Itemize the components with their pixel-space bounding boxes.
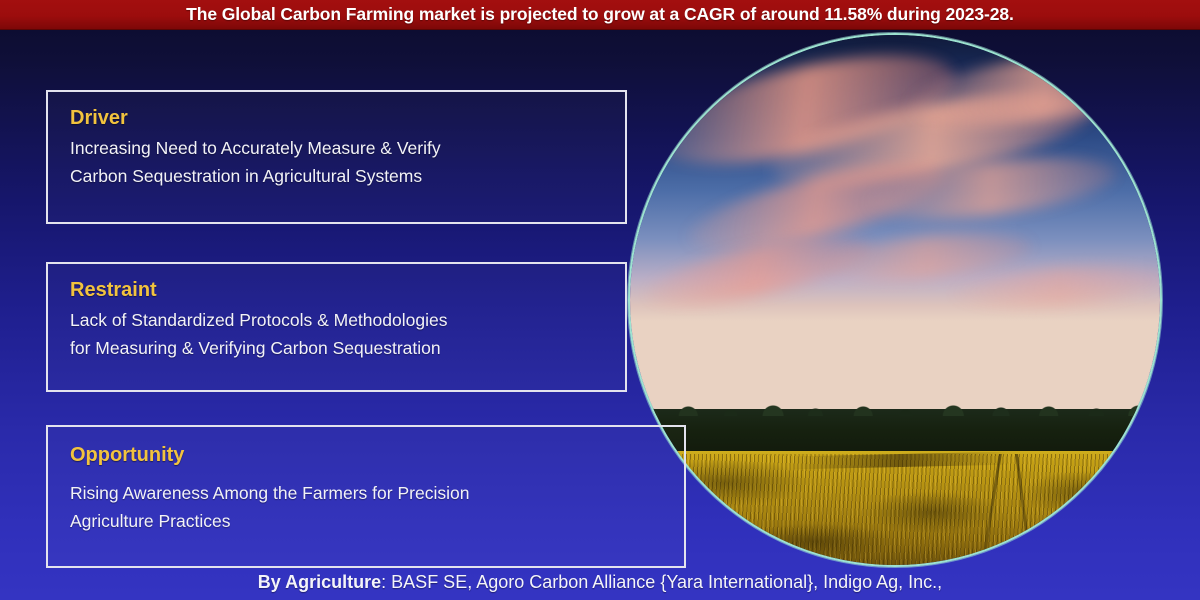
factor-body-line: Increasing Need to Accurately Measure & …	[70, 135, 603, 163]
factor-body-driver: Increasing Need to Accurately Measure & …	[70, 135, 603, 190]
factor-title-driver: Driver	[70, 106, 603, 131]
factor-body-line: Lack of Standardized Protocols & Methodo…	[70, 307, 603, 335]
factor-box-restraint: Restraint Lack of Standardized Protocols…	[46, 262, 627, 392]
factor-box-driver: Driver Increasing Need to Accurately Mea…	[46, 90, 627, 224]
factor-title-opportunity: Opportunity	[70, 443, 662, 468]
infographic-canvas: The Global Carbon Farming market is proj…	[0, 0, 1200, 600]
footer-companies: BASF SE, Agoro Carbon Alliance {Yara Int…	[391, 572, 942, 592]
wheat-field-sunset-photo	[628, 33, 1162, 567]
field-shadow-patch	[863, 491, 1001, 533]
field-shadow-patch	[1022, 470, 1149, 518]
footer-label: By Agriculture	[258, 572, 381, 592]
header-banner: The Global Carbon Farming market is proj…	[0, 0, 1200, 30]
factor-title-restraint: Restraint	[70, 278, 603, 303]
factor-body-line: Carbon Sequestration in Agricultural Sys…	[70, 163, 603, 191]
factor-body-line: for Measuring & Verifying Carbon Sequest…	[70, 335, 603, 363]
footer-separator: :	[381, 572, 391, 592]
header-title: The Global Carbon Farming market is proj…	[186, 4, 1014, 25]
factor-body-opportunity: Rising Awareness Among the Farmers for P…	[70, 480, 662, 535]
factor-box-opportunity: Opportunity Rising Awareness Among the F…	[46, 425, 686, 568]
factor-body-line: Rising Awareness Among the Farmers for P…	[70, 480, 662, 508]
photo-sky-layer	[630, 35, 1160, 565]
treeline	[630, 409, 1160, 457]
footer-company-line: By Agriculture: BASF SE, Agoro Carbon Al…	[0, 572, 1200, 593]
field-shadow-patch	[736, 523, 895, 560]
factor-body-restraint: Lack of Standardized Protocols & Methodo…	[70, 307, 603, 362]
factor-body-line: Agriculture Practices	[70, 508, 662, 536]
